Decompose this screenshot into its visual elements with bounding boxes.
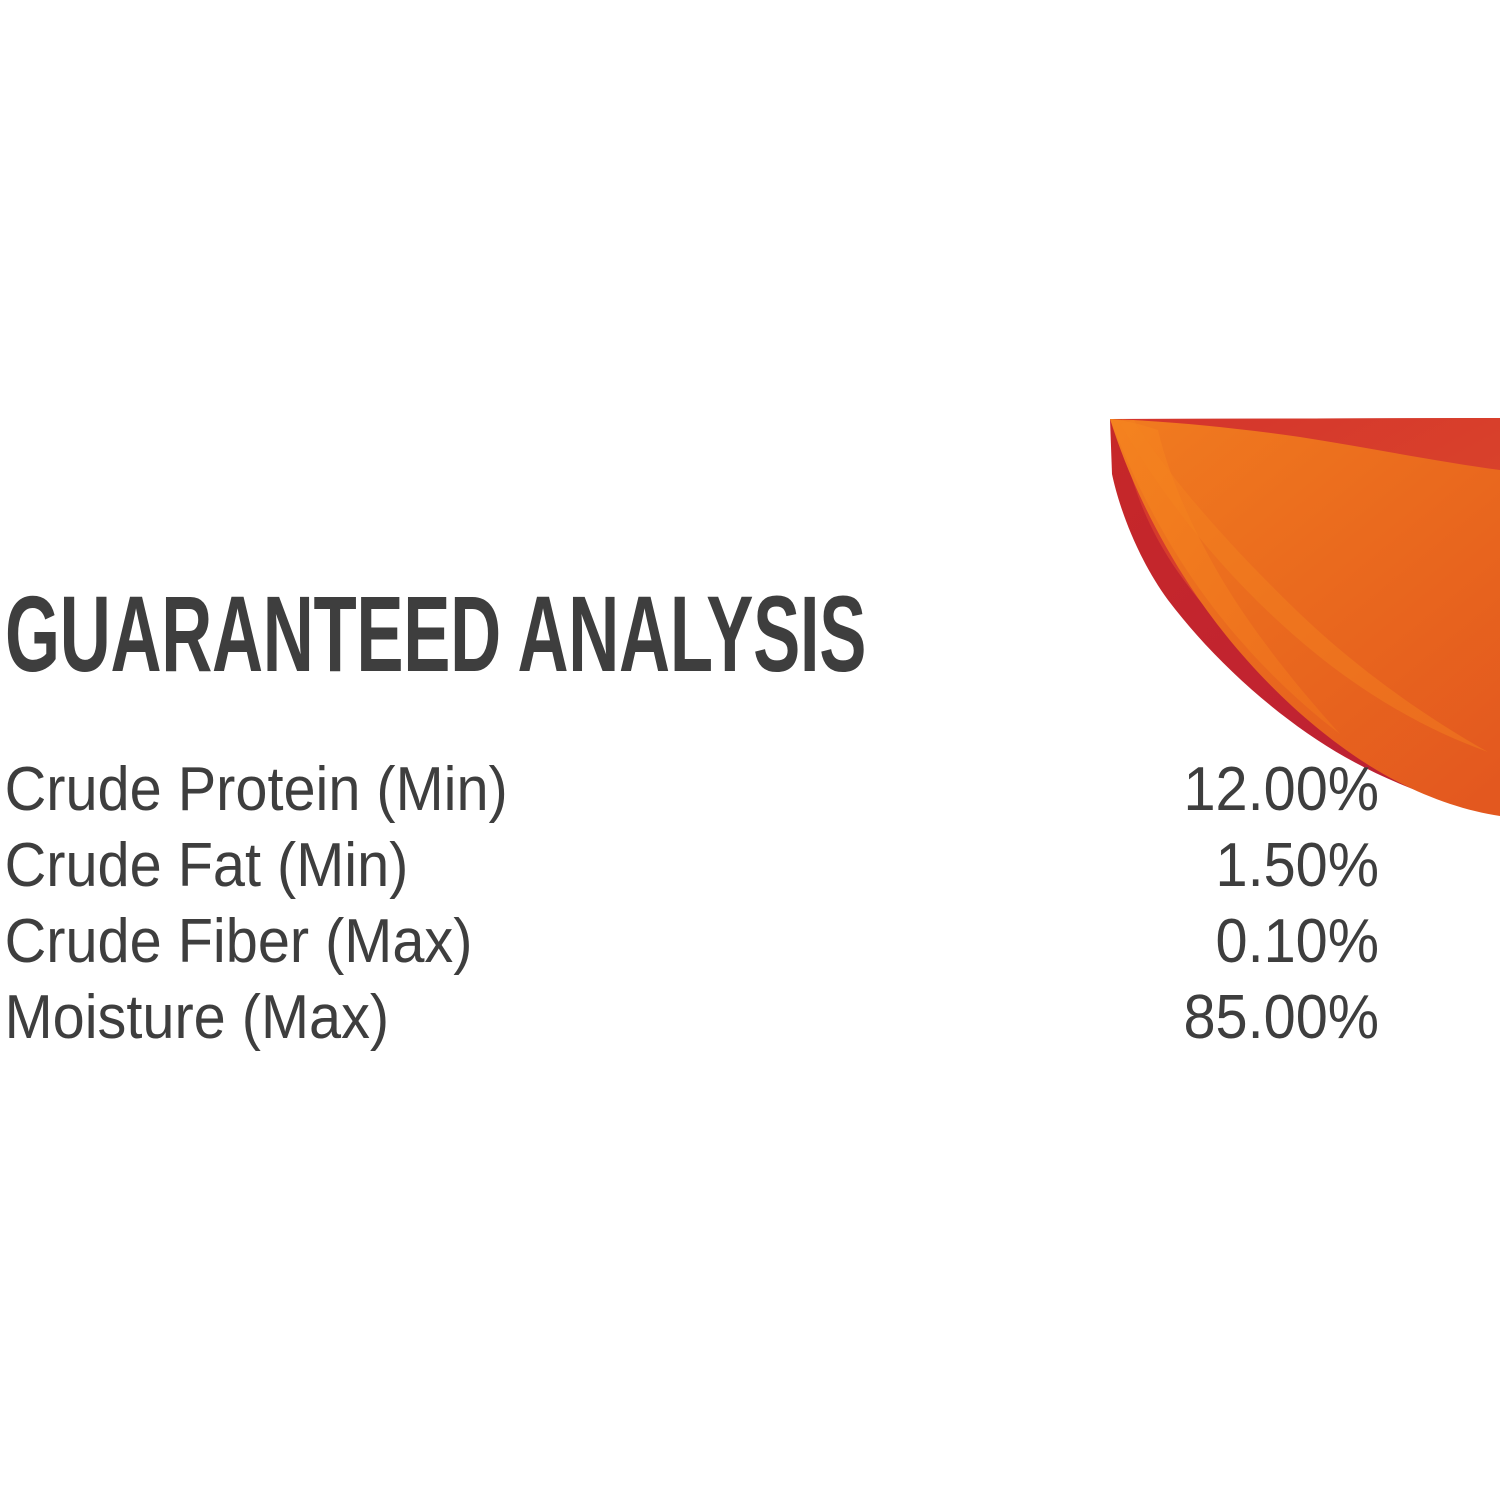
page-title: GUARANTEED ANALYSIS	[5, 580, 866, 688]
nutrient-label: Crude Fiber (Max)	[0, 904, 919, 980]
nutrient-label: Crude Fat (Min)	[0, 828, 919, 904]
table-row: Crude Fiber (Max) 0.10%	[0, 904, 1390, 980]
nutrient-value: 12.00%	[1016, 752, 1390, 828]
nutrient-label: Crude Protein (Min)	[0, 752, 919, 828]
nutrient-value: 85.00%	[1016, 980, 1390, 1056]
analysis-content: GUARANTEED ANALYSIS Crude Protein (Min) …	[0, 570, 1390, 1080]
table-row: Crude Protein (Min) 12.00%	[0, 752, 1390, 828]
nutrient-label: Moisture (Max)	[0, 980, 919, 1056]
nutrient-table: Crude Protein (Min) 12.00% Crude Fat (Mi…	[0, 752, 1390, 1056]
table-row: Crude Fat (Min) 1.50%	[0, 828, 1390, 904]
table-row: Moisture (Max) 85.00%	[0, 980, 1390, 1056]
guaranteed-analysis-panel: GUARANTEED ANALYSIS Crude Protein (Min) …	[0, 0, 1500, 1500]
nutrient-value: 0.10%	[1016, 904, 1390, 980]
nutrient-value: 1.50%	[1016, 828, 1390, 904]
